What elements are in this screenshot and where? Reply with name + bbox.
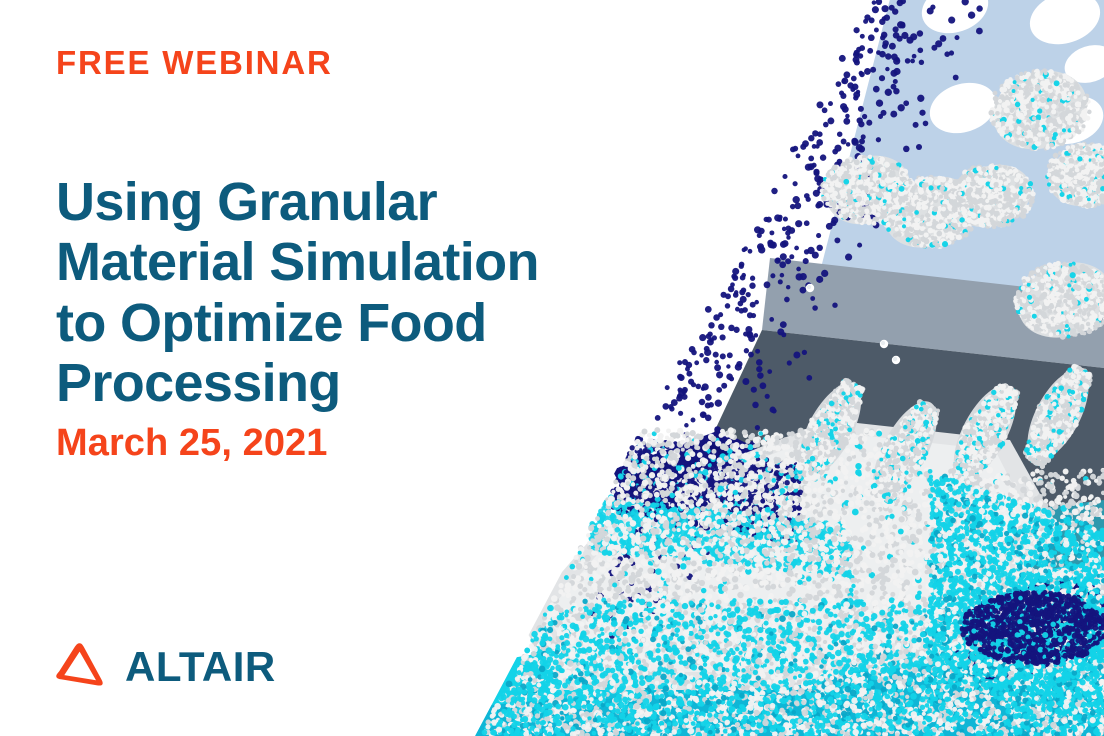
eyebrow-label: FREE WEBINAR bbox=[56, 46, 333, 79]
webinar-promo-card: FREE WEBINAR Using Granular Material Sim… bbox=[0, 0, 1104, 736]
altair-wordmark: ALTAIR bbox=[125, 646, 276, 688]
altair-logo: ALTAIR bbox=[52, 640, 276, 694]
headline-line-1: Using Granular bbox=[56, 172, 676, 232]
altair-triangle-icon bbox=[52, 640, 108, 694]
page-title: Using Granular Material Simulation to Op… bbox=[56, 172, 676, 413]
headline-line-4: Processing bbox=[56, 353, 676, 413]
event-date: March 25, 2021 bbox=[56, 424, 327, 462]
headline-line-3: to Optimize Food bbox=[56, 293, 676, 353]
text-column: FREE WEBINAR Using Granular Material Sim… bbox=[56, 0, 676, 736]
headline-line-2: Material Simulation bbox=[56, 232, 676, 292]
